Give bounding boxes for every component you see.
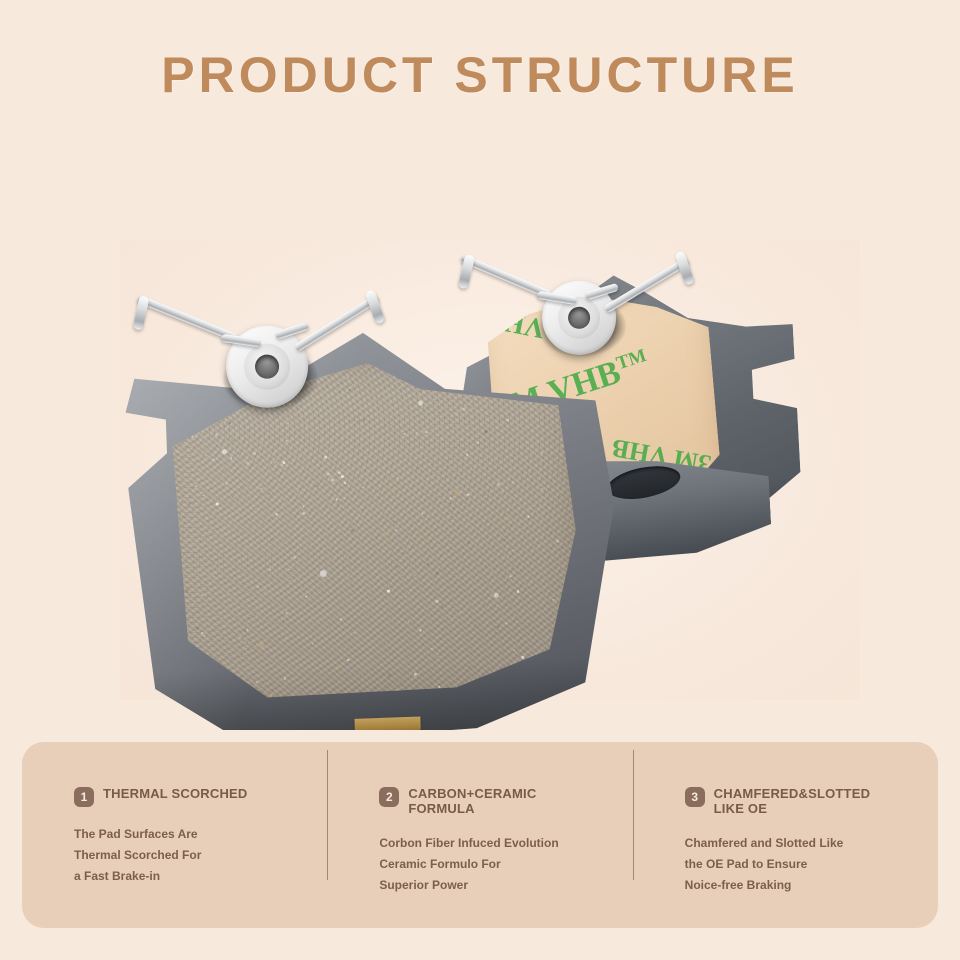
friction-speck (185, 590, 188, 593)
page-title: PRODUCT STRUCTURE (0, 46, 960, 104)
friction-speck (570, 350, 572, 352)
friction-speck (229, 422, 231, 424)
friction-speck (499, 500, 500, 501)
friction-speck (410, 590, 411, 591)
friction-speck (336, 667, 339, 670)
friction-speck (544, 382, 547, 385)
friction-speck (265, 590, 266, 591)
friction-speck (289, 580, 292, 583)
friction-speck (474, 625, 476, 627)
friction-speck (439, 381, 441, 383)
friction-speck (521, 656, 524, 659)
friction-speck (177, 706, 178, 707)
friction-speck (342, 489, 343, 490)
friction-speck (374, 571, 376, 573)
friction-speck (387, 403, 390, 406)
friction-speck (260, 579, 263, 582)
friction-speck (536, 471, 537, 472)
friction-speck (463, 408, 466, 411)
friction-speck (346, 677, 347, 678)
friction-speck (227, 594, 228, 595)
friction-speck (530, 595, 531, 596)
friction-speck (495, 595, 496, 596)
feature-heading: 3 CHAMFERED&SLOTTED LIKE OE (685, 786, 912, 816)
feature-heading: 1 THERMAL SCORCHED (74, 786, 301, 807)
friction-speck (373, 435, 375, 437)
friction-speck (471, 427, 473, 429)
friction-speck (436, 572, 439, 575)
friction-speck (393, 521, 395, 523)
feature-number-badge: 3 (685, 787, 705, 807)
friction-speck (493, 404, 494, 405)
friction-speck (310, 614, 313, 617)
friction-speck (395, 566, 397, 568)
friction-speck (457, 592, 459, 594)
friction-speck (217, 587, 219, 589)
friction-speck (215, 526, 217, 528)
friction-speck (202, 632, 204, 634)
friction-speck (255, 508, 256, 509)
friction-speck (411, 531, 412, 532)
friction-speck (305, 595, 307, 597)
friction-speck (558, 460, 559, 461)
friction-speck (397, 477, 399, 479)
friction-speck (225, 568, 227, 570)
friction-speck (525, 370, 528, 373)
friction-speck (318, 495, 319, 496)
friction-speck (344, 649, 346, 651)
friction-speck (188, 499, 189, 500)
friction-speck (256, 681, 258, 683)
friction-speck (212, 458, 214, 460)
friction-speck (288, 569, 290, 571)
friction-speck (195, 619, 198, 622)
friction-speck (303, 512, 305, 514)
friction-speck (275, 513, 278, 516)
friction-speck (421, 477, 422, 478)
friction-speck (344, 600, 347, 603)
friction-speck (403, 433, 405, 435)
friction-speck (512, 482, 513, 483)
friction-speck (498, 464, 499, 465)
friction-speck (517, 385, 518, 386)
friction-speck (327, 619, 328, 620)
friction-speck (239, 637, 241, 639)
friction-speck (169, 709, 171, 711)
friction-speck (205, 454, 207, 456)
friction-speck (499, 352, 501, 354)
friction-speck (217, 653, 218, 654)
friction-speck (246, 604, 247, 605)
friction-speck (450, 497, 453, 500)
friction-speck (555, 355, 557, 357)
friction-speck (348, 467, 350, 469)
friction-speck (201, 594, 203, 596)
friction-speck (364, 430, 366, 432)
friction-speck (195, 485, 197, 487)
friction-speck (270, 694, 272, 696)
friction-speck (338, 471, 340, 473)
friction-speck (443, 540, 444, 541)
feature-description: Chamfered and Slotted Like the OE Pad to… (685, 833, 912, 896)
friction-speck (531, 508, 532, 509)
friction-speck (513, 649, 515, 651)
friction-speck (449, 616, 450, 617)
friction-speck (513, 550, 514, 551)
friction-speck (158, 429, 159, 430)
friction-speck (391, 442, 393, 444)
friction-speck (552, 599, 554, 601)
friction-speck (441, 605, 444, 608)
friction-speck (297, 491, 298, 492)
friction-speck (391, 488, 394, 491)
friction-speck (388, 674, 391, 677)
friction-speck (246, 649, 247, 650)
friction-speck (435, 599, 438, 602)
friction-speck (463, 547, 465, 549)
friction-speck (204, 559, 206, 561)
friction-speck (203, 494, 205, 496)
friction-speck (410, 615, 411, 616)
friction-speck (518, 554, 519, 555)
friction-speck (263, 417, 264, 418)
friction-speck (467, 493, 470, 496)
friction-speck (521, 552, 523, 554)
friction-speck (257, 586, 259, 588)
friction-speck (262, 442, 263, 443)
feature-item-carbon-ceramic-formula: 2 CARBON+CERAMIC FORMULA Corbon Fiber In… (327, 742, 632, 928)
friction-speck (352, 420, 353, 421)
friction-speck (344, 470, 347, 473)
friction-speck (460, 359, 463, 362)
friction-speck (402, 552, 404, 554)
friction-speck (286, 479, 287, 480)
feature-number-badge: 2 (379, 787, 399, 807)
product-photo: 3M VHB 3M VHBTM 3M VHB 3M VHB (0, 150, 960, 730)
friction-speck (374, 531, 375, 532)
friction-speck (541, 488, 543, 490)
friction-speck (517, 591, 519, 593)
friction-speck (438, 686, 440, 688)
friction-speck (188, 502, 191, 505)
friction-speck (269, 414, 271, 416)
friction-speck (403, 555, 404, 556)
friction-speck (535, 569, 538, 572)
friction-speck (504, 548, 505, 549)
friction-speck (225, 626, 226, 627)
friction-speck (282, 621, 284, 623)
friction-speck (180, 379, 182, 381)
friction-speck (558, 483, 559, 484)
friction-speck (224, 533, 226, 535)
friction-speck (193, 449, 196, 452)
friction-speck (286, 638, 287, 639)
friction-speck (515, 601, 516, 602)
friction-speck (568, 363, 570, 365)
friction-speck (380, 567, 382, 569)
friction-speck (274, 655, 275, 656)
friction-speck (315, 578, 316, 579)
friction-speck (416, 536, 419, 539)
friction-speck (367, 542, 368, 543)
friction-speck (260, 672, 261, 673)
friction-speck (246, 462, 249, 465)
friction-speck (278, 673, 279, 674)
friction-speck (402, 410, 404, 412)
friction-speck (199, 570, 200, 571)
friction-speck (531, 591, 532, 592)
friction-speck (354, 631, 357, 634)
friction-speck (439, 599, 441, 601)
friction-speck (477, 442, 478, 443)
friction-speck (270, 648, 271, 649)
friction-speck (196, 627, 199, 630)
friction-speck (337, 544, 340, 547)
friction-speck (362, 487, 364, 489)
friction-speck (252, 555, 254, 557)
friction-speck (293, 556, 295, 558)
friction-speck (341, 475, 344, 478)
friction-speck (442, 373, 445, 376)
friction-speck (457, 414, 458, 415)
friction-speck (230, 457, 233, 460)
friction-speck (507, 419, 509, 421)
friction-speck (208, 430, 209, 431)
friction-speck (328, 392, 331, 395)
friction-speck (354, 452, 355, 453)
friction-speck (478, 420, 479, 421)
friction-speck (498, 626, 500, 628)
friction-speck (215, 433, 217, 435)
friction-speck (546, 377, 548, 379)
friction-speck (415, 432, 418, 435)
friction-speck (484, 604, 485, 605)
friction-speck (419, 629, 421, 631)
friction-speck (492, 571, 493, 572)
friction-speck (454, 628, 455, 629)
friction-speck (312, 643, 314, 645)
friction-speck (240, 610, 242, 612)
friction-speck (491, 591, 494, 594)
friction-speck (363, 420, 364, 421)
friction-speck (416, 468, 418, 470)
friction-speck (260, 488, 262, 490)
friction-speck (495, 632, 496, 633)
friction-speck (395, 600, 398, 603)
friction-speck (318, 619, 320, 621)
friction-speck (477, 626, 479, 628)
friction-speck (542, 451, 544, 453)
feature-item-chamfered-slotted-like-oe: 3 CHAMFERED&SLOTTED LIKE OE Chamfered an… (633, 742, 938, 928)
friction-speck (155, 364, 157, 366)
friction-speck (509, 472, 510, 473)
feature-title: THERMAL SCORCHED (103, 786, 248, 801)
friction-speck (437, 549, 438, 550)
friction-speck (547, 384, 548, 385)
friction-speck (549, 413, 550, 414)
friction-speck (322, 439, 323, 440)
friction-speck (555, 456, 558, 459)
friction-speck (342, 607, 343, 608)
friction-speck (527, 621, 528, 622)
friction-speck (303, 505, 305, 507)
feature-title: CHAMFERED&SLOTTED LIKE OE (714, 786, 871, 816)
friction-speck (509, 575, 511, 577)
friction-speck (226, 482, 229, 485)
friction-speck (460, 612, 461, 613)
friction-speck (285, 612, 288, 615)
friction-speck (421, 512, 424, 515)
friction-speck (373, 494, 376, 497)
friction-speck (223, 642, 224, 643)
friction-speck (545, 385, 548, 388)
friction-speck (324, 456, 326, 458)
friction-speck (427, 563, 430, 566)
friction-speck (400, 386, 401, 387)
friction-speck (246, 572, 247, 573)
friction-speck (284, 677, 287, 680)
product-structure-infographic: PRODUCT STRUCTURE 3M VHB 3M VHBTM 3M VHB… (0, 0, 960, 960)
friction-speck (194, 365, 196, 367)
friction-speck (351, 529, 354, 532)
friction-speck (284, 581, 286, 583)
friction-speck (442, 625, 443, 626)
friction-speck (496, 604, 497, 605)
friction-speck (437, 519, 439, 521)
friction-speck (383, 533, 386, 536)
friction-speck (242, 510, 244, 512)
friction-speck (568, 355, 569, 356)
friction-speck (395, 529, 398, 532)
friction-speck (390, 598, 393, 601)
friction-speck (345, 482, 347, 484)
friction-speck (327, 473, 330, 476)
friction-speck (306, 426, 308, 428)
friction-speck (286, 440, 288, 442)
friction-speck (441, 548, 443, 550)
friction-speck (225, 428, 226, 429)
friction-speck (416, 640, 419, 643)
friction-speck (204, 635, 206, 637)
feature-list: 1 THERMAL SCORCHED The Pad Surfaces Are … (22, 742, 938, 928)
friction-speck (218, 476, 220, 478)
friction-speck (157, 376, 160, 379)
friction-speck (554, 431, 556, 433)
friction-speck (466, 453, 468, 455)
friction-speck (497, 483, 500, 486)
friction-speck (331, 478, 334, 481)
friction-speck (488, 642, 489, 643)
friction-speck (270, 538, 272, 540)
friction-speck (357, 573, 359, 575)
friction-speck (523, 460, 524, 461)
friction-speck (179, 450, 182, 453)
friction-speck (253, 426, 254, 427)
friction-speck (395, 493, 397, 495)
friction-speck (211, 579, 213, 581)
friction-speck (524, 391, 527, 394)
friction-speck (213, 563, 214, 564)
friction-speck (462, 468, 465, 471)
friction-speck (312, 468, 313, 469)
friction-speck (345, 570, 346, 571)
friction-speck (513, 595, 514, 596)
friction-speck (339, 455, 340, 456)
friction-speck (268, 492, 270, 494)
friction-speck (469, 666, 471, 668)
feature-description: The Pad Surfaces Are Thermal Scorched Fo… (74, 824, 301, 887)
friction-speck (503, 539, 506, 542)
wear-indicator-tab (354, 717, 421, 730)
friction-speck (244, 642, 245, 643)
friction-speck (536, 466, 538, 468)
friction-speck (347, 558, 348, 559)
friction-speck (274, 462, 275, 463)
friction-speck (336, 499, 338, 501)
friction-speck (387, 589, 390, 592)
friction-speck (357, 421, 358, 422)
friction-speck (287, 422, 289, 424)
friction-speck (505, 622, 507, 624)
friction-speck (492, 563, 494, 565)
friction-speck (238, 447, 239, 448)
friction-speck (424, 527, 425, 528)
friction-speck (343, 506, 344, 507)
friction-speck (507, 557, 508, 558)
friction-speck (188, 623, 189, 624)
friction-speck (235, 431, 236, 432)
friction-speck (537, 538, 538, 539)
friction-speck (205, 436, 206, 437)
friction-speck (269, 569, 271, 571)
friction-speck (321, 629, 322, 630)
friction-speck (410, 551, 411, 552)
friction-speck (467, 542, 469, 544)
friction-speck (436, 656, 439, 659)
friction-speck (543, 537, 544, 538)
friction-speck (509, 486, 510, 487)
friction-speck (347, 659, 349, 661)
friction-speck (216, 503, 219, 506)
friction-speck (403, 685, 404, 686)
friction-speck (316, 485, 318, 487)
friction-speck (286, 448, 288, 450)
friction-speck (483, 494, 485, 496)
friction-speck (465, 523, 467, 525)
friction-speck (556, 539, 559, 542)
friction-speck (220, 535, 221, 536)
feature-description: Corbon Fiber Infuced Evolution Ceramic F… (379, 833, 606, 896)
friction-speck (149, 419, 152, 422)
friction-speck (185, 449, 186, 450)
friction-speck (349, 389, 351, 391)
friction-speck (337, 502, 339, 504)
friction-speck (327, 605, 329, 607)
friction-speck (337, 622, 338, 623)
friction-speck (431, 648, 433, 650)
friction-speck (449, 502, 452, 505)
feature-panel: 1 THERMAL SCORCHED The Pad Surfaces Are … (22, 742, 938, 928)
friction-speck (356, 637, 357, 638)
friction-speck (543, 528, 546, 531)
friction-speck (340, 619, 342, 621)
friction-speck (414, 676, 417, 679)
friction-speck (343, 498, 344, 499)
friction-speck (259, 607, 260, 608)
friction-speck (415, 575, 416, 576)
friction-speck (506, 517, 509, 520)
friction-speck (425, 431, 427, 433)
